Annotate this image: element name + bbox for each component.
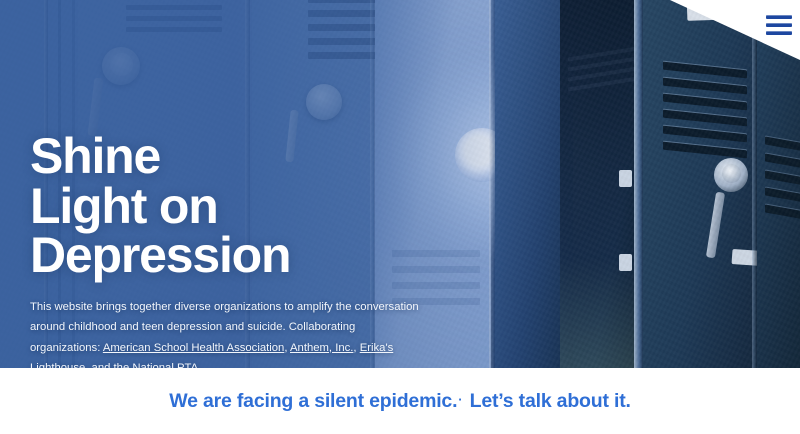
lede-end: .	[198, 362, 201, 368]
tagline-dot: ·	[457, 392, 464, 407]
tagline-band: We are facing a silent epidemic.· Let’s …	[0, 368, 800, 434]
lede-separator-3: , and the	[85, 362, 132, 368]
tagline-part-2: Let’s talk about it.	[470, 390, 631, 412]
link-national-pta[interactable]: National PTA	[132, 362, 198, 368]
page-root: Shine Light on Depression This website b…	[0, 0, 800, 434]
hero-section: Shine Light on Depression This website b…	[0, 0, 800, 368]
headline-line-2: Light on	[30, 182, 450, 232]
link-anthem-inc[interactable]: Anthem, Inc.	[290, 342, 353, 354]
tagline-part-1: We are facing a silent epidemic.	[169, 390, 457, 412]
tagline: We are facing a silent epidemic.· Let’s …	[169, 390, 630, 413]
headline-line-3: Depression	[30, 231, 450, 281]
hero-description: This website brings together diverse org…	[30, 297, 422, 369]
headline-line-1: Shine	[30, 132, 450, 182]
hero-copy: Shine Light on Depression This website b…	[30, 132, 450, 368]
menu-bar-2	[766, 23, 792, 27]
hamburger-menu-icon[interactable]	[766, 15, 792, 35]
link-american-school-health-association[interactable]: American School Health Association	[103, 342, 284, 354]
page-title: Shine Light on Depression	[30, 132, 450, 281]
menu-bar-3	[766, 31, 792, 35]
menu-bar-1	[766, 15, 792, 19]
